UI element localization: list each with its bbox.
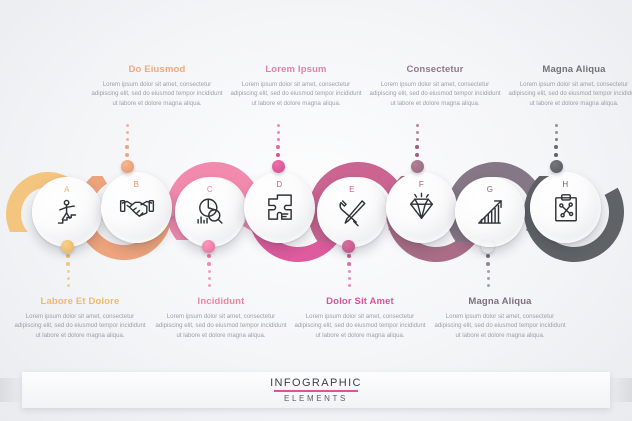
body-text: Lorem ipsum dolor sit amet, consectetur …	[14, 312, 146, 340]
node-g[interactable]: G	[455, 177, 525, 247]
heading-lorem-ipsum: Lorem Ipsum	[230, 64, 362, 75]
connector-dots-f	[415, 122, 419, 159]
heading-dolor-sit-amet: Dolor Sit Amet	[294, 296, 426, 307]
node-letter-g: G	[455, 185, 525, 194]
footer-title: INFOGRAPHIC	[270, 377, 362, 389]
bubble-c	[202, 240, 215, 253]
connector-dots-g	[486, 252, 490, 289]
node-a[interactable]: A	[32, 177, 102, 247]
body-text: Lorem ipsum dolor sit amet, consectetur …	[294, 312, 426, 340]
body-text: Lorem ipsum dolor sit amet, consectetur …	[230, 80, 362, 108]
puzzle-icon	[262, 190, 298, 226]
node-h[interactable]: H	[530, 172, 601, 243]
text-block-bottom-1: Labore Et Dolore Lorem ipsum dolor sit a…	[14, 296, 146, 340]
heading-magna-aliqua-bottom: Magna Aliqua	[434, 296, 566, 307]
text-block-bottom-4: Magna Aliqua Lorem ipsum dolor sit amet,…	[434, 296, 566, 340]
text-block-top-3: Consectetur Lorem ipsum dolor sit amet, …	[369, 64, 501, 108]
bubble-b	[121, 160, 134, 173]
heading-magna-aliqua-top: Magna Aliqua	[508, 64, 632, 75]
bubble-g	[481, 240, 494, 253]
clipboard-strategy-icon	[549, 191, 583, 225]
bubble-d	[272, 160, 285, 173]
connector-dots-c	[207, 252, 211, 289]
body-text: Lorem ipsum dolor sit amet, consectetur …	[155, 312, 287, 340]
body-text: Lorem ipsum dolor sit amet, consectetur …	[369, 80, 501, 108]
body-text: Lorem ipsum dolor sit amet, consectetur …	[91, 80, 223, 108]
heading-consectetur: Consectetur	[369, 64, 501, 75]
body-text: Lorem ipsum dolor sit amet, consectetur …	[434, 312, 566, 340]
infographic-canvas: A B C	[0, 0, 632, 421]
heading-labore-et-dolore: Labore Et Dolore	[14, 296, 146, 307]
connector-dots-a	[66, 252, 70, 289]
node-letter-d: D	[244, 180, 315, 189]
handshake-icon	[119, 190, 155, 226]
footer-rule	[274, 390, 358, 392]
node-d[interactable]: D	[244, 172, 315, 243]
heading-do-eiusmod: Do Eiusmod	[91, 64, 223, 75]
stairs-climb-icon	[50, 195, 84, 229]
node-letter-f: F	[386, 180, 457, 189]
node-c[interactable]: C	[175, 177, 245, 247]
node-f[interactable]: F	[386, 172, 457, 243]
connector-dots-b	[125, 122, 129, 159]
bubble-e	[342, 240, 355, 253]
node-letter-c: C	[175, 185, 245, 194]
node-letter-h: H	[530, 180, 601, 189]
node-b[interactable]: B	[101, 172, 172, 243]
footer-banner: INFOGRAPHIC ELEMENTS	[22, 372, 610, 408]
growth-chart-icon	[473, 195, 507, 229]
bubble-a	[61, 240, 74, 253]
text-block-top-4: Magna Aliqua Lorem ipsum dolor sit amet,…	[508, 64, 632, 108]
node-letter-b: B	[101, 180, 172, 189]
connector-dots-e	[347, 252, 351, 289]
node-letter-e: E	[317, 185, 387, 194]
wrench-pencil-icon	[335, 195, 369, 229]
node-e[interactable]: E	[317, 177, 387, 247]
text-block-bottom-2: Incididunt Lorem ipsum dolor sit amet, c…	[155, 296, 287, 340]
text-block-bottom-3: Dolor Sit Amet Lorem ipsum dolor sit ame…	[294, 296, 426, 340]
pie-chart-magnifier-icon	[193, 195, 227, 229]
bubble-h	[550, 160, 563, 173]
heading-incididunt: Incididunt	[155, 296, 287, 307]
diamond-icon	[404, 190, 439, 225]
text-block-top-2: Lorem Ipsum Lorem ipsum dolor sit amet, …	[230, 64, 362, 108]
footer-subtitle: ELEMENTS	[284, 394, 348, 403]
bubble-f	[411, 160, 424, 173]
body-text: Lorem ipsum dolor sit amet, consectetur …	[508, 80, 632, 108]
connector-dots-h	[554, 122, 558, 159]
connector-dots-d	[276, 122, 280, 159]
node-letter-a: A	[32, 185, 102, 194]
text-block-top-1: Do Eiusmod Lorem ipsum dolor sit amet, c…	[91, 64, 223, 108]
